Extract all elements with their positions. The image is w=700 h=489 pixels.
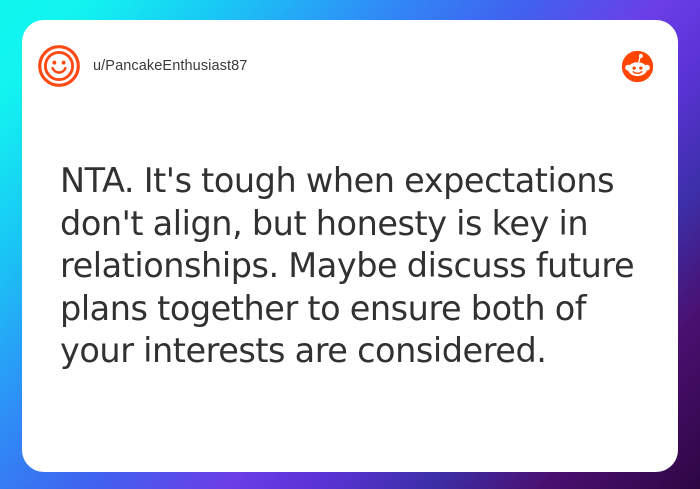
reddit-comment-card: u/PancakeEnthusiast87 bbox=[22, 20, 678, 472]
comment-text: NTA. It's tough when expectations don't … bbox=[60, 160, 660, 373]
comment-header: u/PancakeEnthusiast87 bbox=[22, 20, 678, 112]
reddit-snoo-icon bbox=[621, 50, 654, 83]
smiley-face-avatar-icon bbox=[38, 45, 80, 87]
username-label: u/PancakeEnthusiast87 bbox=[93, 58, 247, 74]
reddit-logo[interactable] bbox=[621, 50, 654, 83]
screenshot-root: u/PancakeEnthusiast87 bbox=[0, 0, 700, 489]
comment-body: NTA. It's tough when expectations don't … bbox=[60, 160, 660, 373]
avatar[interactable] bbox=[38, 45, 80, 87]
